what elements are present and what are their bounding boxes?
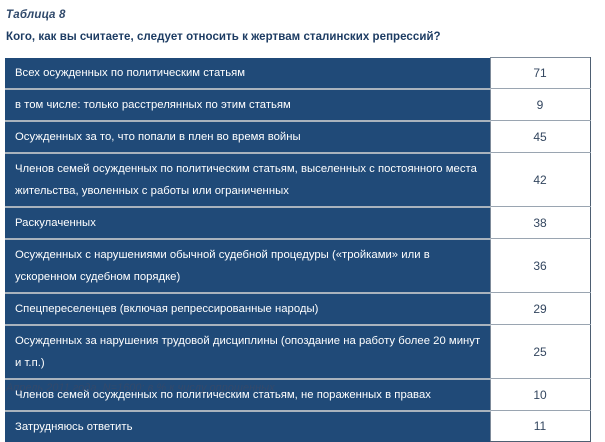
- answer-percent-value: 9: [490, 89, 590, 121]
- answer-percent-value: 25: [490, 325, 590, 379]
- table-row: Спецпереселенцев (включая репрессированн…: [5, 293, 590, 325]
- table-row: Затрудняюсь ответить11: [5, 411, 590, 442]
- answer-label: Осужденных с нарушениями обычной судебно…: [5, 239, 490, 293]
- answer-percent-value: 29: [490, 293, 590, 325]
- answer-percent-value: 42: [490, 153, 590, 207]
- table-caption: Таблица 8: [6, 8, 66, 22]
- answer-label: Осужденных за то, что попали в плен во в…: [5, 121, 490, 153]
- answer-percent-value: 10: [490, 379, 590, 411]
- answer-label: Затрудняюсь ответить: [5, 411, 490, 442]
- answer-label: Раскулаченных: [5, 207, 490, 239]
- answer-label: Осужденных за нарушения трудовой дисципл…: [5, 325, 490, 379]
- page-title: Кого, как вы считаете, следует относить …: [6, 30, 441, 44]
- table-row: Всех осужденных по политическим статьям7…: [5, 58, 590, 89]
- table-row: в том числе: только расстрелянных по эти…: [5, 89, 590, 121]
- answer-label: в том числе: только расстрелянных по эти…: [5, 89, 490, 121]
- answer-label: Всех осужденных по политическим статьям: [5, 58, 490, 89]
- table-row: Раскулаченных38: [5, 207, 590, 239]
- answer-label: Спецпереселенцев (включая репрессированн…: [5, 293, 490, 325]
- table-footnote: Апрель 2011 года, N=1600; в % к числу оп…: [6, 381, 275, 395]
- table-row: Осужденных за то, что попали в плен во в…: [5, 121, 590, 153]
- table-page: Таблица 8 Кого, как вы считаете, следует…: [0, 0, 605, 405]
- answer-percent-value: 38: [490, 207, 590, 239]
- table-row: Членов семей осужденных по политическим …: [5, 153, 590, 207]
- table-row: Осужденных с нарушениями обычной судебно…: [5, 239, 590, 293]
- answer-percent-value: 36: [490, 239, 590, 293]
- answer-label: Членов семей осужденных по политическим …: [5, 153, 490, 207]
- table-row: Осужденных за нарушения трудовой дисципл…: [5, 325, 590, 379]
- answer-percent-value: 71: [490, 58, 590, 89]
- answer-percent-value: 45: [490, 121, 590, 153]
- answer-percent-value: 11: [490, 411, 590, 442]
